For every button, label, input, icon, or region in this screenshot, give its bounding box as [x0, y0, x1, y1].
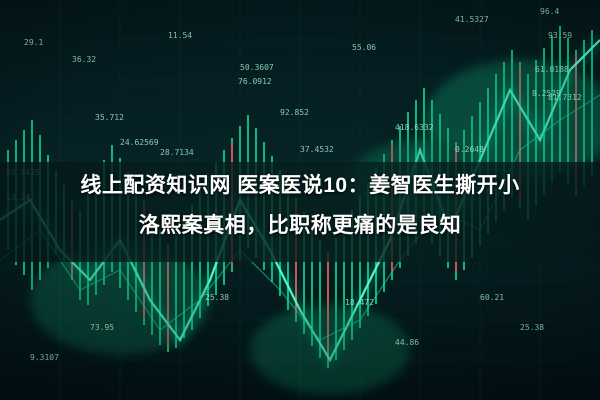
headline-text: 线上配资知识网 医案医说10：姜智医生撕开小 洛熙案真相，比职称更痛的是良知: [0, 166, 600, 246]
headline-line-2: 洛熙案真相，比职称更痛的是良知: [24, 206, 576, 246]
banner-image: 96.4 93.59 61.0188 8.2579 81.7312 50.360…: [0, 0, 600, 400]
headline-line-1: 线上配资知识网 医案医说10：姜智医生撕开小: [24, 166, 576, 206]
